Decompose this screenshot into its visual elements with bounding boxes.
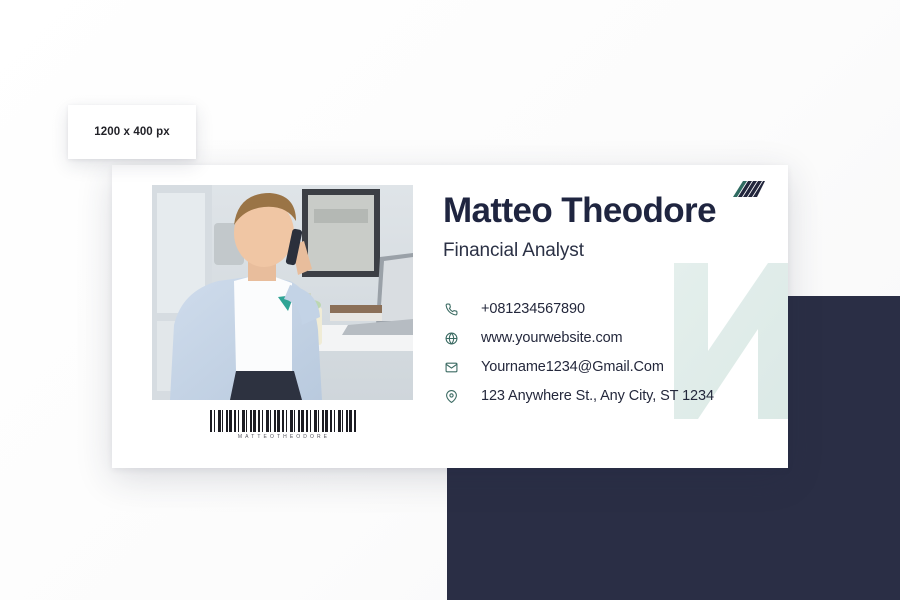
contact-list: +081234567890 www.yourwebsite.com (443, 295, 770, 411)
contact-phone[interactable]: +081234567890 (443, 295, 770, 324)
contact-address-value: 123 Anywhere St., Any City, ST 1234 (481, 388, 714, 404)
contact-phone-value: +081234567890 (481, 301, 585, 317)
person-role: Financial Analyst (443, 240, 770, 262)
phone-icon (443, 301, 459, 317)
contact-email[interactable]: Yourname1234@Gmail.Com (443, 353, 770, 382)
contact-address[interactable]: 123 Anywhere St., Any City, ST 1234 (443, 382, 770, 411)
barcode: MATTEOTHEODORE (152, 410, 413, 440)
contact-website-value: www.yourwebsite.com (481, 330, 623, 346)
profile-photo (152, 185, 413, 400)
barcode-caption: MATTEOTHEODORE (152, 434, 413, 440)
business-card: MATTEOTHEODORE Matteo Theodore Financial… (112, 165, 788, 468)
contact-website[interactable]: www.yourwebsite.com (443, 324, 770, 353)
globe-icon (443, 330, 459, 346)
size-label-chip: 1200 x 400 px (68, 105, 196, 159)
location-pin-icon (443, 388, 459, 404)
contact-email-value: Yourname1234@Gmail.Com (481, 359, 664, 375)
barcode-bars (210, 410, 356, 432)
person-name: Matteo Theodore (443, 193, 770, 230)
envelope-icon (443, 359, 459, 375)
size-label-text: 1200 x 400 px (94, 126, 169, 138)
design-canvas: MATTEOTHEODORE Matteo Theodore Financial… (0, 0, 900, 600)
card-info-column: Matteo Theodore Financial Analyst +08123… (443, 193, 770, 411)
